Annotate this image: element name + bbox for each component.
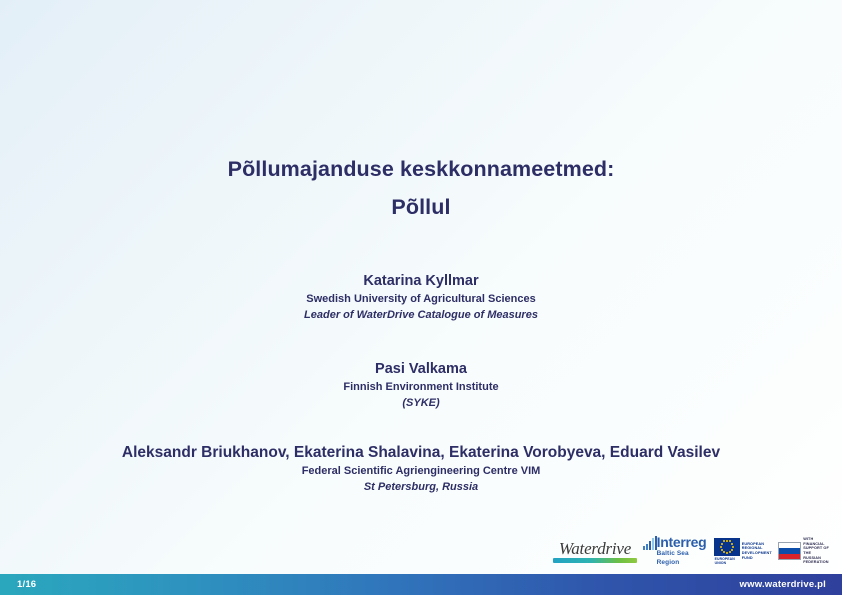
eu-star-icon	[729, 551, 731, 553]
eu-star-icon	[732, 546, 734, 548]
russian-federation-support-logo: WITH FINANCIAL SUPPORT OF THE RUSSIAN FE…	[778, 537, 833, 565]
author-affiliation: Swedish University of Agricultural Scien…	[0, 291, 842, 307]
russian-flag-icon	[778, 542, 801, 560]
logo-strip: Waterdrive Interreg Baltic Sea Region EU…	[553, 533, 833, 569]
eu-star-icon	[720, 546, 722, 548]
eu-caption: EUROPEAN UNION	[714, 557, 739, 565]
eu-star-icon	[731, 549, 733, 551]
interreg-wordmark: Interreg	[657, 535, 708, 549]
author-list: Katarina Kyllmar Swedish University of A…	[0, 271, 842, 495]
footer-bar: 1/16 www.waterdrive.pl	[0, 574, 842, 595]
page-indicator: 1/16	[0, 579, 36, 590]
presentation-slide: Põllumajanduse keskkonnameetmed: Põllul …	[0, 0, 842, 595]
russian-support-text: WITH FINANCIAL SUPPORT OF THE RUSSIAN FE…	[803, 537, 833, 565]
eu-star-icon	[723, 551, 725, 553]
european-union-erdf-logo: EUROPEAN UNION EUROPEAN REGIONAL DEVELOP…	[714, 538, 772, 565]
slide-title: Põllumajanduse keskkonnameetmed: Põllul	[0, 150, 842, 226]
author-role: (SYKE)	[0, 395, 842, 411]
author-role: Leader of WaterDrive Catalogue of Measur…	[0, 307, 842, 323]
interreg-text: Interreg Baltic Sea Region	[657, 535, 708, 567]
interreg-subtitle: Baltic Sea Region	[657, 549, 708, 567]
eu-star-icon	[721, 543, 723, 545]
author-affiliation: Federal Scientific Agriengineering Centr…	[0, 463, 842, 479]
waterdrive-swoosh-icon	[553, 558, 637, 563]
eu-flag-wrapper: EUROPEAN UNION	[714, 538, 740, 565]
erdf-line-3: DEVELOPMENT	[742, 551, 772, 556]
eu-star-icon	[726, 552, 728, 554]
eu-star-icon	[731, 543, 733, 545]
russian-support-line-4: FEDERATION	[803, 560, 833, 565]
erdf-text: EUROPEAN REGIONAL DEVELOPMENT FUND	[742, 542, 772, 560]
waterdrive-wordmark: Waterdrive	[559, 540, 631, 557]
author-affiliation: Finnish Environment Institute	[0, 379, 842, 395]
waterdrive-logo: Waterdrive	[553, 540, 637, 563]
eu-star-icon	[723, 540, 725, 542]
footer-website: www.waterdrive.pl	[740, 579, 842, 590]
author-role: St Petersburg, Russia	[0, 479, 842, 495]
author-block-3: Aleksandr Briukhanov, Ekaterina Shalavin…	[0, 443, 842, 495]
title-line-1: Põllumajanduse keskkonnameetmed:	[0, 150, 842, 188]
title-line-2: Põllul	[0, 188, 842, 226]
author-name: Aleksandr Briukhanov, Ekaterina Shalavin…	[0, 443, 842, 463]
interreg-bars-icon	[643, 536, 656, 550]
author-block-2: Pasi Valkama Finnish Environment Institu…	[0, 359, 842, 411]
russian-support-line-2: SUPPORT OF THE	[803, 546, 833, 555]
eu-star-icon	[721, 549, 723, 551]
author-name: Katarina Kyllmar	[0, 271, 842, 291]
interreg-logo: Interreg Baltic Sea Region	[643, 535, 708, 567]
russian-support-line-1: WITH FINANCIAL	[803, 537, 833, 546]
author-name: Pasi Valkama	[0, 359, 842, 379]
erdf-line-4: FUND	[742, 556, 772, 561]
eu-star-icon	[729, 540, 731, 542]
author-block-1: Katarina Kyllmar Swedish University of A…	[0, 271, 842, 323]
eu-flag-icon	[714, 538, 740, 556]
eu-star-icon	[726, 540, 728, 542]
